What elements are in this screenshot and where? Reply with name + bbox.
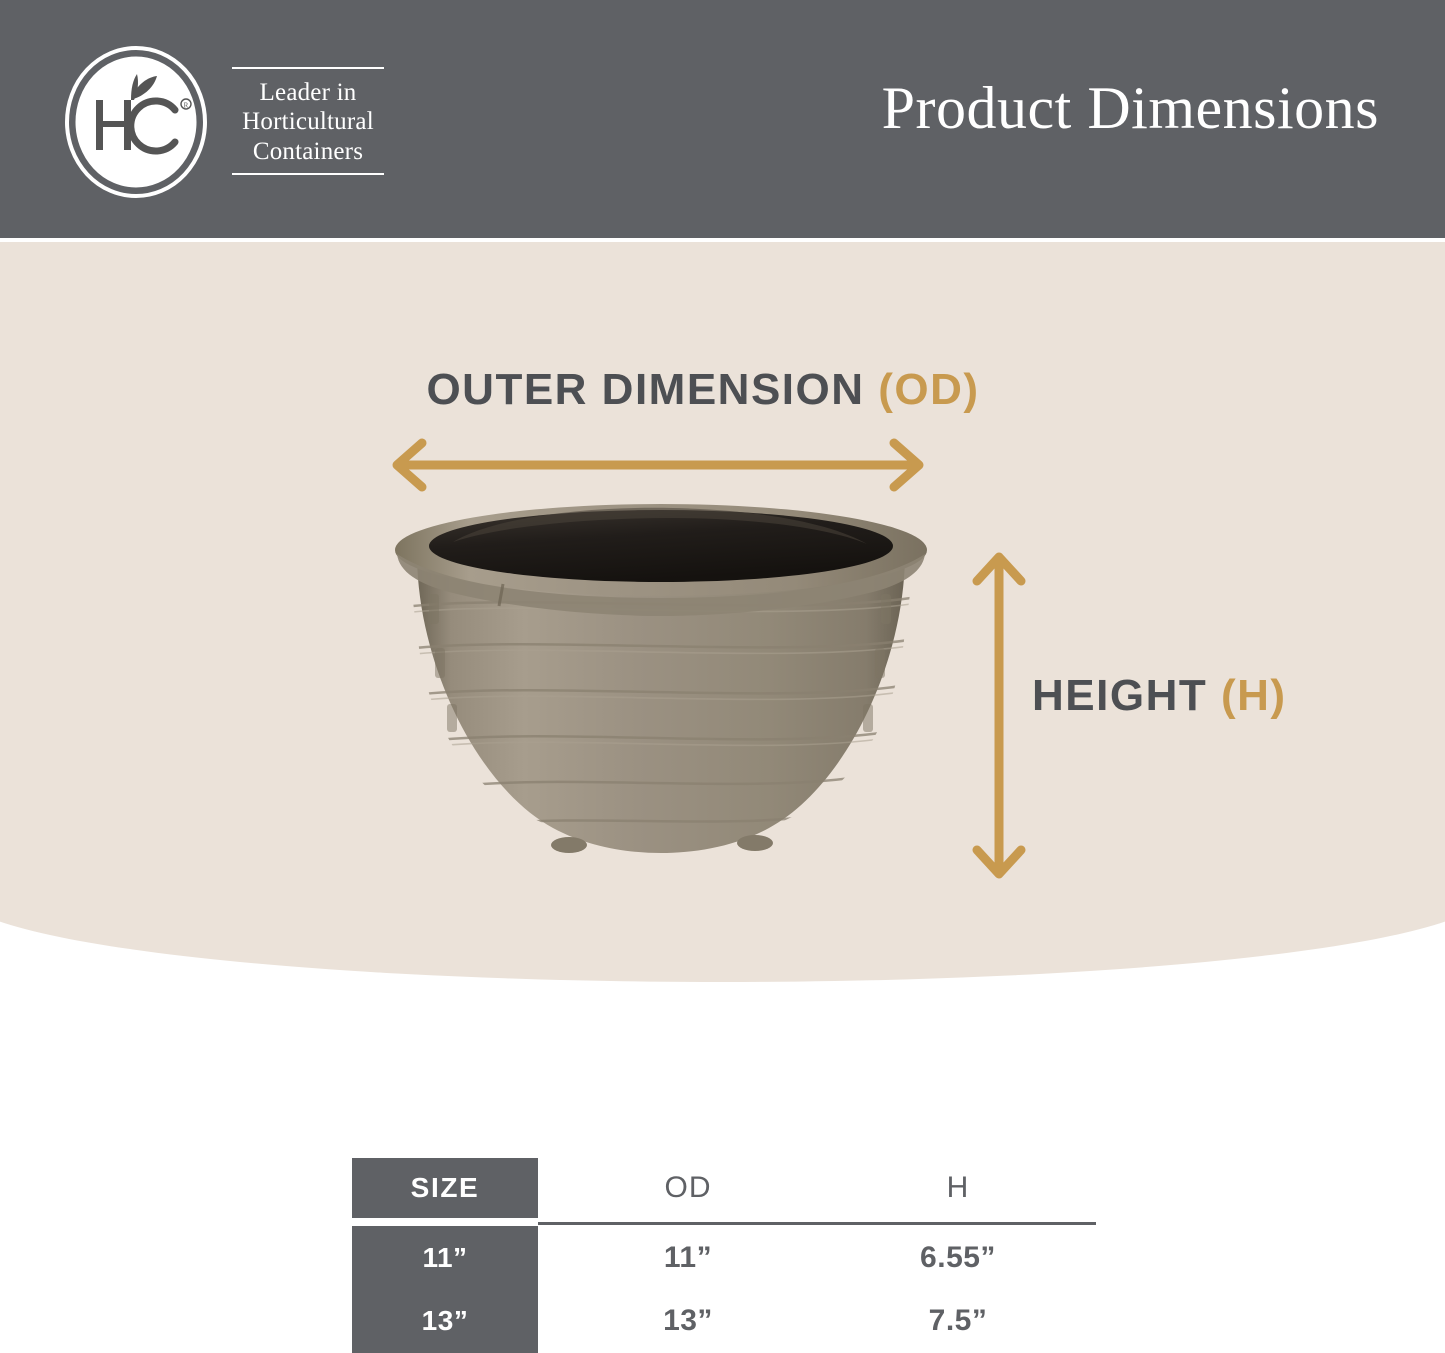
table-row: 13” [602,1289,774,1352]
planter-product-image [383,498,939,878]
od-label-abbrev: (OD) [878,365,979,414]
table-row-size: 13” [352,1289,538,1352]
page-title: Product Dimensions [882,78,1379,138]
tagline-line-2: Horticultural [232,107,384,136]
outer-dimension-arrow-icon [380,436,936,494]
tagline-line-3: Containers [232,137,384,166]
height-arrow-icon [968,548,1030,883]
table-header-divider [538,1222,1096,1225]
od-label-text: OUTER DIMENSION [426,365,878,414]
table-header-size: SIZE [352,1158,538,1218]
table-header-h: H [872,1158,1044,1218]
height-label: HEIGHT (H) [1032,671,1287,721]
brand-tagline: Leader in Horticultural Containers [232,60,384,184]
table-size-column: 11” 13” [352,1226,538,1353]
height-label-text: HEIGHT [1032,671,1221,720]
height-label-abbrev: (H) [1221,671,1287,720]
brand-logo: R Leader in Horticultural Containers [62,44,392,200]
tagline-rule-bottom [232,173,384,175]
table-row-size: 11” [352,1226,538,1289]
hc-logo-icon: R [62,44,210,200]
table-header-size-label: SIZE [411,1172,480,1204]
dimensions-table: SIZE OD H 11” 13” 11” 6.55” 13” 7.5” [352,1158,1096,1353]
tagline-line-1: Leader in [232,78,384,107]
table-row: 11” [602,1226,774,1289]
table-row: 7.5” [872,1289,1044,1352]
outer-dimension-label: OUTER DIMENSION (OD) [378,365,1028,415]
svg-text:R: R [184,102,189,110]
table-row: 6.55” [872,1226,1044,1289]
table-header-od: OD [602,1158,774,1218]
